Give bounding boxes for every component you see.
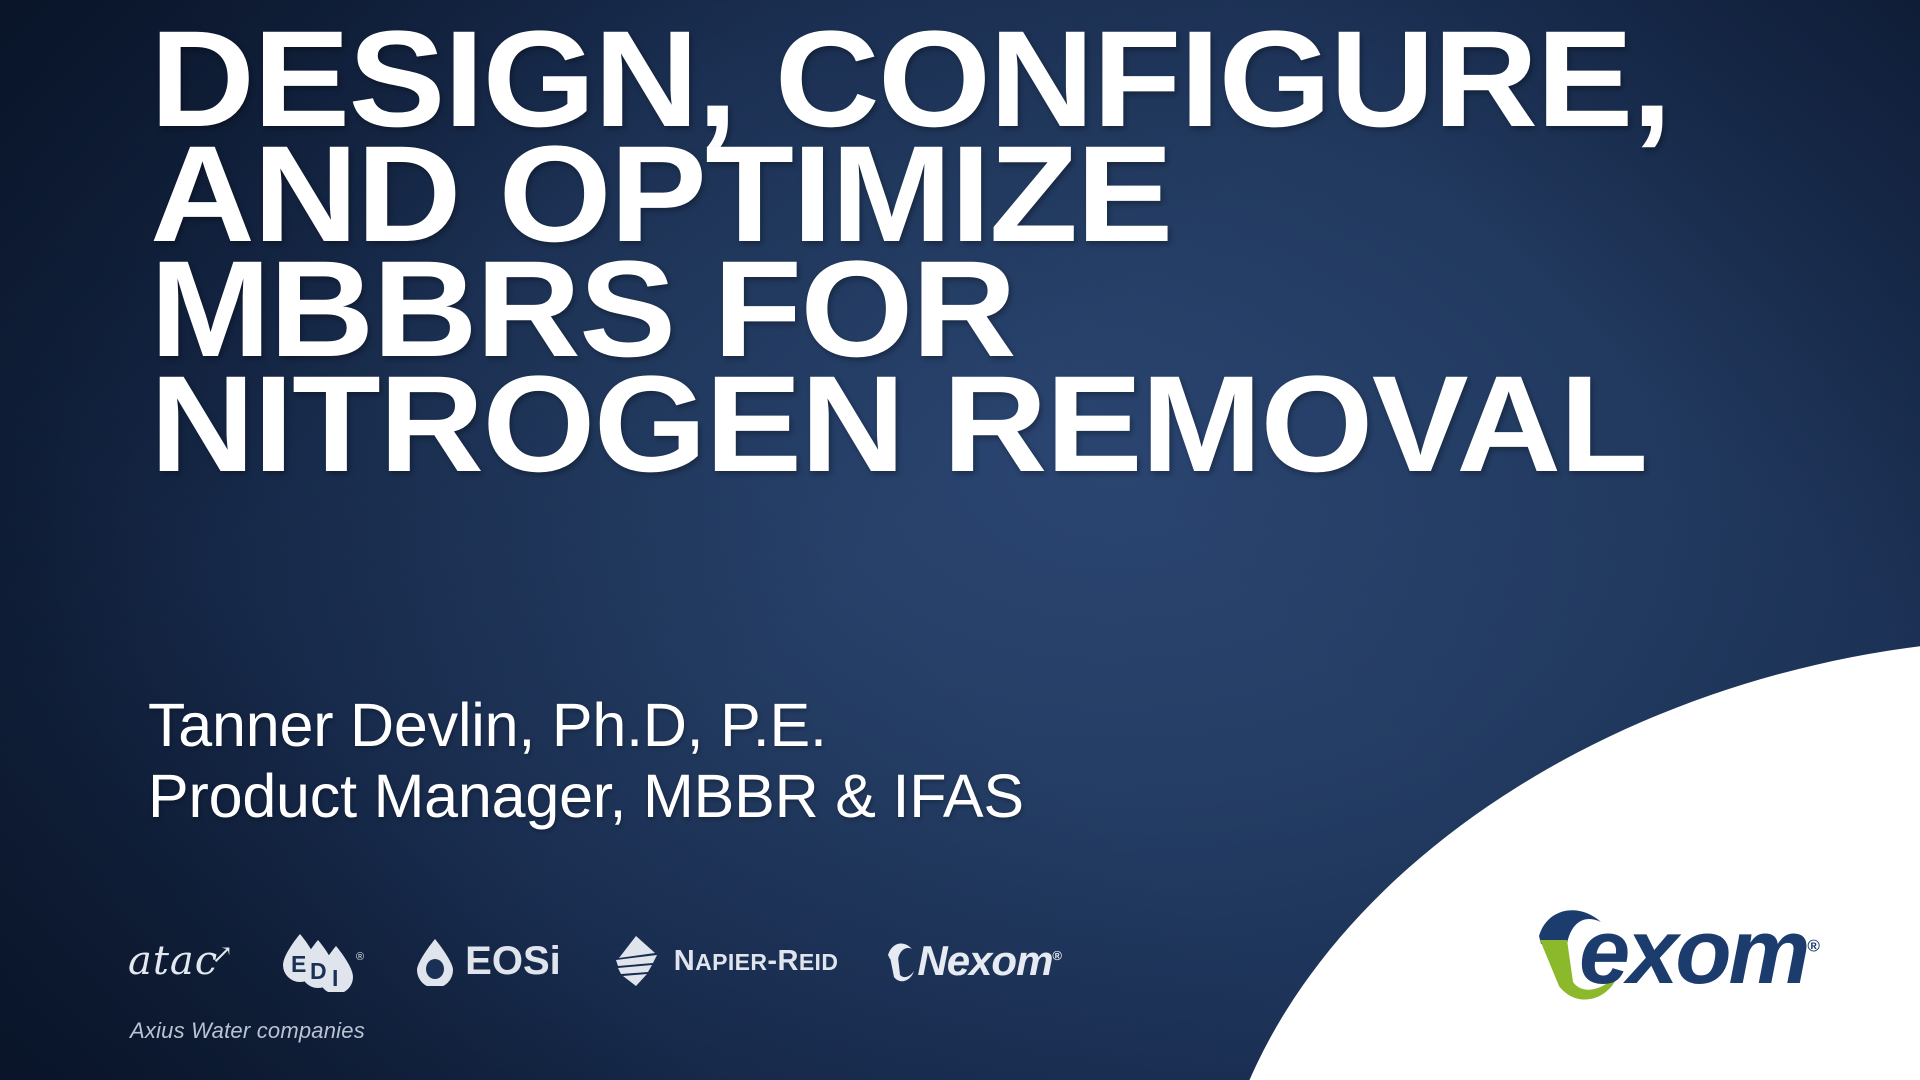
nexom-small-wordmark: Nexom (917, 937, 1052, 984)
svg-text:E: E (291, 951, 306, 977)
presenter-block: Tanner Devlin, Ph.D, P.E. Product Manage… (148, 690, 1024, 832)
partner-caption: Axius Water companies (130, 1018, 365, 1044)
title-slide: DESIGN, CONFIGURE, AND OPTIMIZE MBBRS FO… (0, 0, 1920, 1080)
partner-logo-napier-reid: NAPIER-REID (607, 929, 839, 993)
presenter-role: Product Manager, MBBR & IFAS (148, 761, 1024, 832)
presenter-name: Tanner Devlin, Ph.D, P.E. (148, 690, 1024, 761)
eosi-wordmark: EOSi (465, 939, 561, 984)
nexom-brand-logo: exom® (1527, 900, 1897, 1012)
water-droplets-icon: E D I ® (278, 930, 368, 992)
nexom-wordmark: exom (1579, 901, 1807, 1003)
registered-trademark-icon: ® (1052, 948, 1061, 963)
swoosh-arrow-icon: ↗ (211, 940, 234, 970)
atac-wordmark: atac (128, 938, 218, 984)
water-droplet-icon (414, 936, 456, 986)
partner-logo-eosi: EOSi (414, 929, 561, 993)
napier-reid-wordmark: NAPIER-REID (674, 945, 839, 978)
partner-logo-nexom: Nexom® (884, 929, 1061, 993)
title-line-4: NITROGEN REMOVAL (150, 367, 1888, 482)
slide-title: DESIGN, CONFIGURE, AND OPTIMIZE MBBRS FO… (150, 22, 1888, 482)
svg-text:D: D (310, 958, 327, 984)
partner-logo-atac: atac ↗ (128, 929, 232, 993)
partner-logo-edi: E D I ® (278, 929, 368, 993)
partner-logo-strip: atac ↗ E D I ® EOS (128, 926, 1061, 996)
svg-text:®: ® (356, 951, 364, 963)
registered-trademark-icon: ® (1807, 936, 1820, 955)
layered-diamond-icon (607, 932, 665, 990)
svg-text:I: I (332, 965, 338, 991)
